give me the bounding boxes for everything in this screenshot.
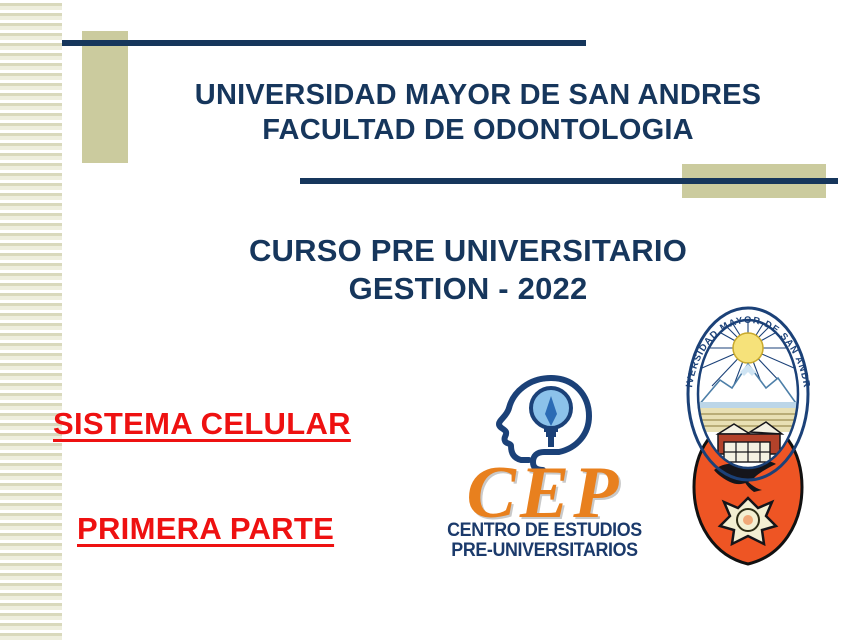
cep-acronym: CEP xyxy=(437,456,652,530)
decorative-navy-bar-top xyxy=(62,40,586,46)
topic-subject: SISTEMA CELULAR xyxy=(53,406,351,442)
decorative-navy-bar-middle xyxy=(300,178,838,184)
cep-subtitle-line1: CENTRO DE ESTUDIOS xyxy=(443,520,645,542)
university-title: UNIVERSIDAD MAYOR DE SAN ANDRES FACULTAD… xyxy=(118,78,838,149)
course-title: CURSO PRE UNIVERSITARIO GESTION - 2022 xyxy=(118,232,818,308)
umsa-coat-of-arms-icon: UNIVERSIDAD MAYOR DE SAN ANDRES xyxy=(678,302,818,577)
decorative-stripe-band xyxy=(0,0,62,640)
university-name-line: UNIVERSIDAD MAYOR DE SAN ANDRES xyxy=(118,78,838,113)
course-name-line: CURSO PRE UNIVERSITARIO xyxy=(118,232,818,270)
topic-part: PRIMERA PARTE xyxy=(77,511,334,547)
cep-logo: CEP CENTRO DE ESTUDIOS PRE-UNIVERSITARIO… xyxy=(437,372,652,562)
cep-subtitle-line2: PRE-UNIVERSITARIOS xyxy=(443,540,645,562)
presentation-slide: UNIVERSIDAD MAYOR DE SAN ANDRES FACULTAD… xyxy=(0,0,854,640)
faculty-name-line: FACULTAD DE ODONTOLOGIA xyxy=(118,113,838,148)
